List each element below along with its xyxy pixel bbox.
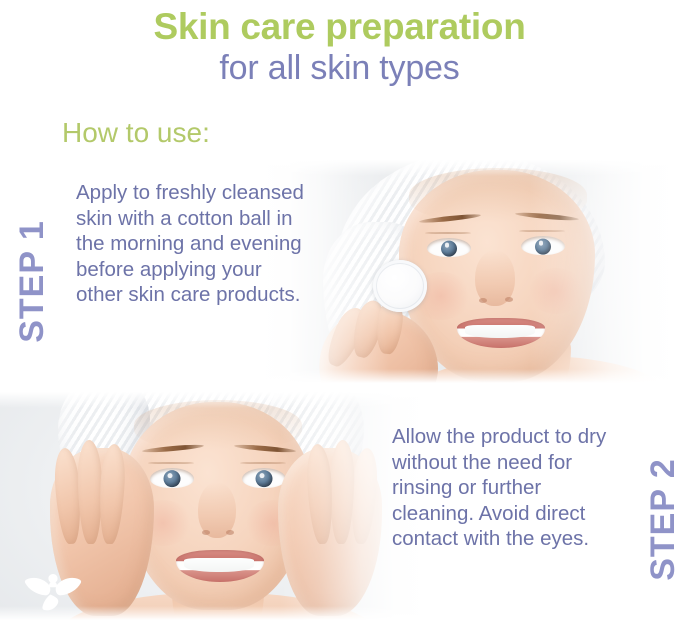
eye-left (427, 238, 471, 257)
page-subtitle: for all skin types (0, 48, 679, 88)
nostril-left (202, 530, 210, 535)
eye-left (150, 468, 194, 488)
step-2-text: Allow the product to dry without the nee… (392, 424, 624, 552)
nostril-left (479, 298, 487, 303)
eyelid-crease-left (148, 462, 194, 464)
iris-right (256, 470, 273, 487)
photo-fade-top (0, 392, 430, 408)
teeth (184, 558, 254, 572)
step-2-photo (0, 392, 430, 620)
nostril-right (226, 530, 234, 535)
skincare-infographic: Skin care preparation for all skin types… (0, 0, 679, 620)
step-1-text: Apply to freshly cleansed skin with a co… (76, 180, 308, 308)
photo-fade-top (259, 160, 679, 176)
eyelid-crease-left (425, 232, 471, 234)
page-title: Skin care preparation (0, 0, 679, 48)
iris-left (164, 470, 181, 487)
photo-fade-bottom (259, 369, 679, 383)
step-1-photo (259, 160, 679, 383)
step-1-label: STEP 1 (13, 220, 52, 343)
teeth (465, 325, 535, 338)
step-2-label: STEP 2 (644, 458, 679, 581)
header: Skin care preparation for all skin types… (0, 0, 679, 160)
photo-fade-bottom (0, 606, 430, 620)
photo-fade-right (529, 160, 679, 383)
nostril-right (505, 297, 513, 302)
iris-left (441, 240, 457, 256)
how-to-use-heading: How to use: (62, 117, 210, 149)
